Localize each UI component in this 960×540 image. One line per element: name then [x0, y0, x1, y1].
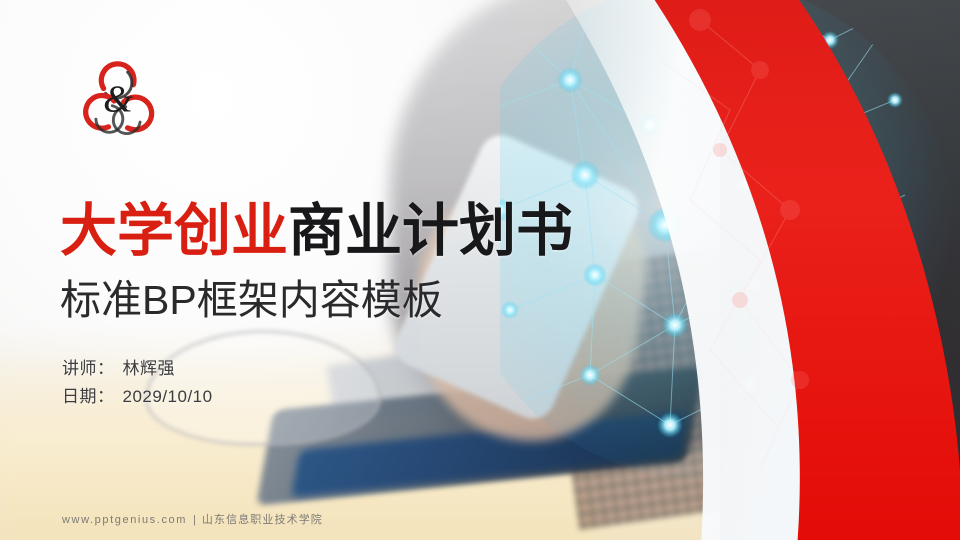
title-highlight: 大学创业: [60, 199, 288, 263]
footer-separator: |: [187, 514, 202, 526]
page-title: 大学创业商业计划书: [60, 202, 573, 262]
date-label: 日期：: [62, 383, 115, 411]
logo-ampersand: &: [103, 79, 133, 121]
date-row: 日期：2029/10/10: [62, 383, 213, 411]
date-value: 2029/10/10: [115, 383, 213, 411]
presenter-row: 讲师：林辉强: [62, 355, 213, 383]
footer: www.pptgenius.com|山东信息职业技术学院: [62, 511, 323, 527]
title-rest: 商业计划书: [288, 199, 573, 263]
presenter-label: 讲师：: [62, 355, 115, 383]
page-subtitle: 标准BP框架内容模板: [60, 277, 443, 324]
footer-url[interactable]: www.pptgenius.com: [62, 514, 187, 526]
company-logo: &: [70, 52, 166, 148]
meta-block: 讲师：林辉强 日期：2029/10/10: [62, 355, 213, 411]
presentation-slide: & 大学创业商业计划书 标准BP框架内容模板 讲师：林辉强 日期：2029/10…: [0, 0, 960, 540]
presenter-value: 林辉强: [115, 355, 176, 383]
footer-organization: 山东信息职业技术学院: [202, 514, 323, 526]
